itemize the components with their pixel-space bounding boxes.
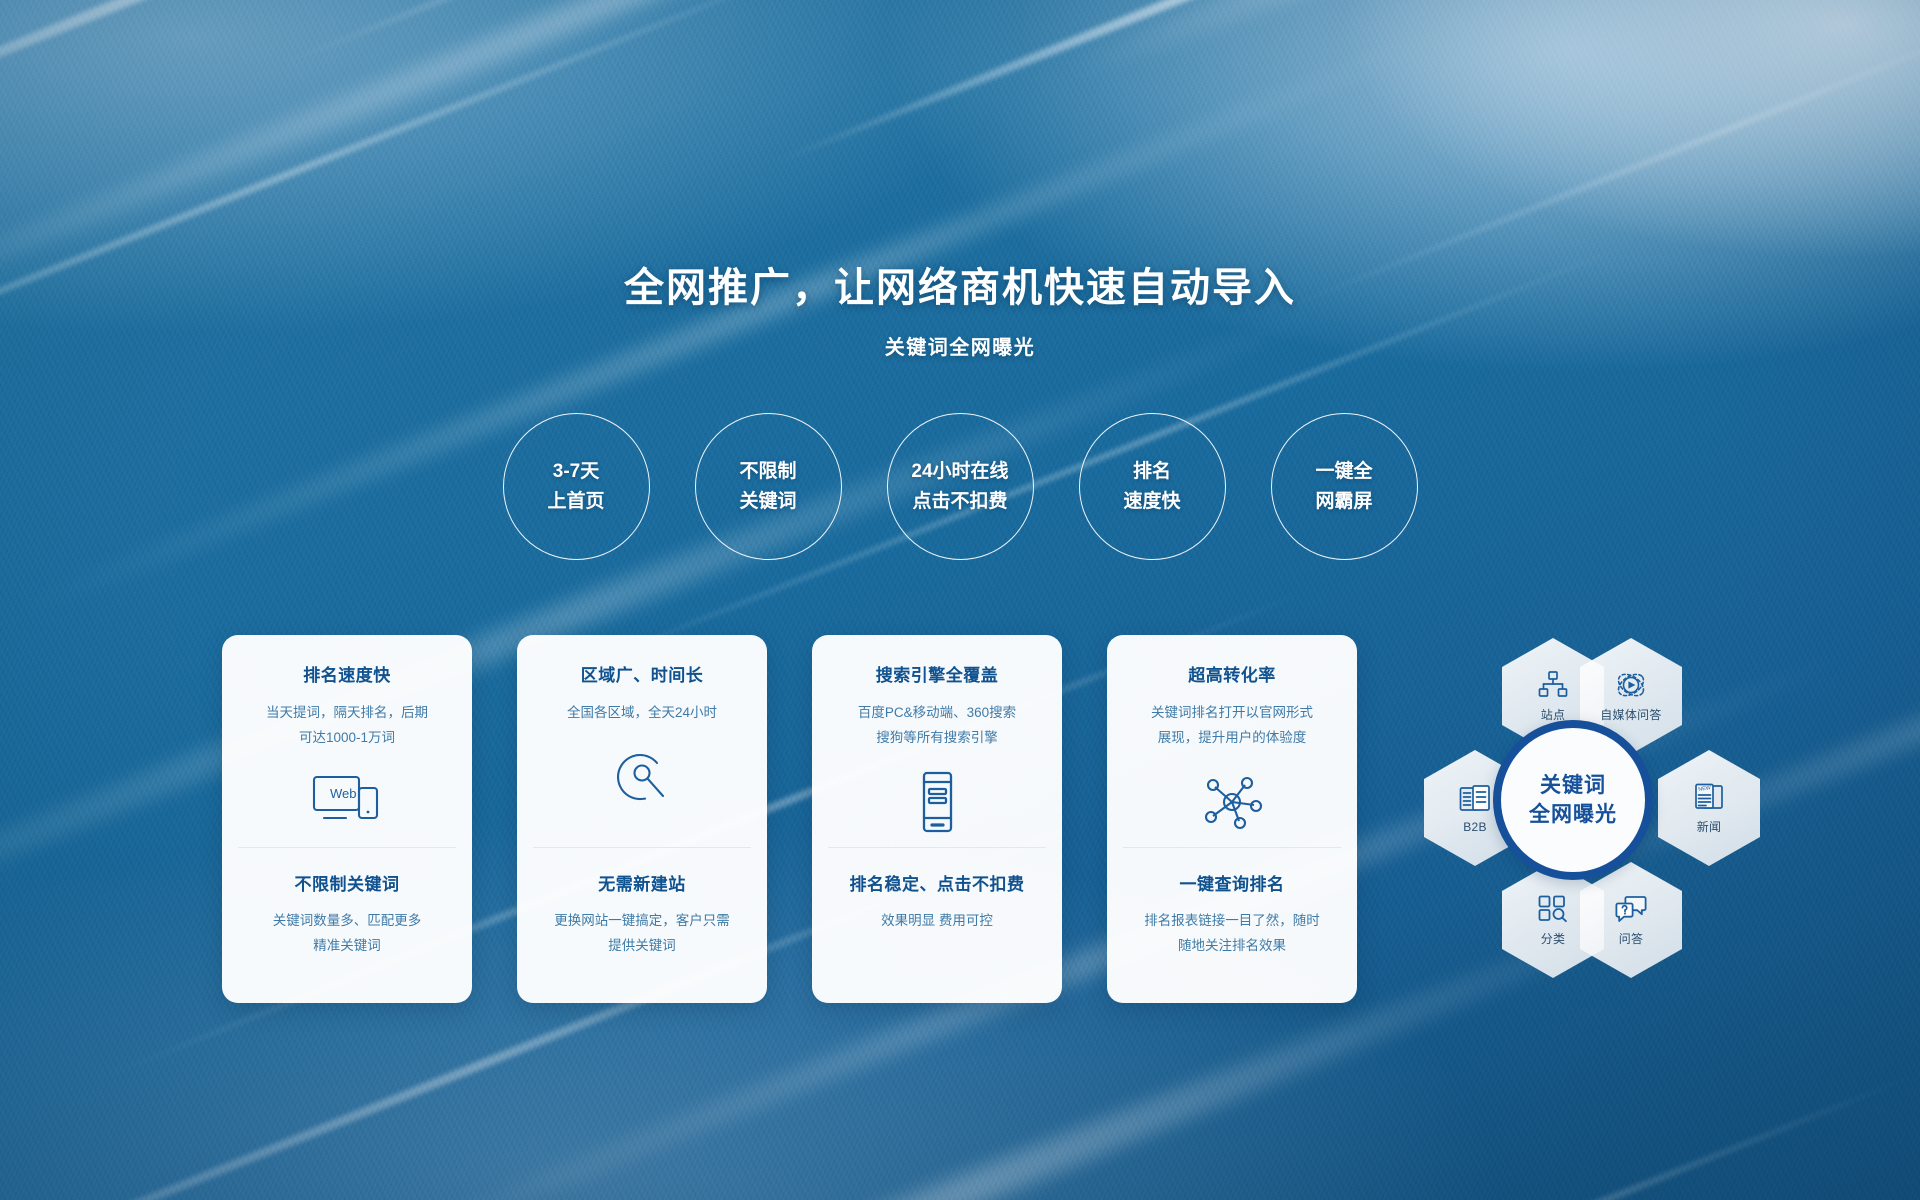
mobile-device-icon xyxy=(829,763,1045,841)
card-top-heading: 排名速度快 xyxy=(239,661,455,686)
web-monitor-phone-icon: Web xyxy=(239,763,455,841)
center-line-2: 全网曝光 xyxy=(1529,800,1617,829)
card-bottom-text: 关键词数量多、匹配更多 精准关键词 xyxy=(239,909,455,959)
card-top-text-line-1: 百度PC&移动端、360搜索 xyxy=(829,701,1045,726)
feature-card-4[interactable]: 超高转化率 关键词排名打开以官网形式 展现，提升用户的体验度 xyxy=(1107,635,1357,1003)
card-top-text: 全国各区域，全天24小时 xyxy=(534,701,750,726)
page-header: 全网推广，让网络商机快速自动导入 关键词全网曝光 xyxy=(0,255,1920,360)
circle-line-2: 上首页 xyxy=(547,487,604,516)
card-bottom-text: 更换网站一键搞定，客户只需 提供关键词 xyxy=(534,909,750,959)
card-top-section: 排名速度快 当天提词，隔天排名，后期 可达1000-1万词 Web xyxy=(222,635,472,847)
sitemap-icon xyxy=(1538,669,1568,701)
hexagon-qa[interactable]: 问答 xyxy=(1580,862,1682,978)
hexagon-label: 自媒体问答 xyxy=(1600,706,1662,723)
hexagon-label: B2B xyxy=(1463,820,1487,834)
hexagon-label: 分类 xyxy=(1541,930,1566,947)
card-top-text: 关键词排名打开以官网形式 展现，提升用户的体验度 xyxy=(1124,701,1340,751)
card-top-text-line-2: 展现，提升用户的体验度 xyxy=(1124,726,1340,751)
card-top-text-line-1: 关键词排名打开以官网形式 xyxy=(1124,701,1340,726)
card-top-section: 区域广、时间长 全国各区域，全天24小时 xyxy=(517,635,767,847)
hexagon-label: 问答 xyxy=(1619,930,1644,947)
network-nodes-icon xyxy=(1124,763,1340,841)
card-top-text: 当天提词，隔天排名，后期 可达1000-1万词 xyxy=(239,701,455,751)
circle-line-1: 不限制 xyxy=(739,457,796,486)
documents-icon xyxy=(1459,783,1491,815)
card-bottom-section: 无需新建站 更换网站一键搞定，客户只需 提供关键词 xyxy=(517,848,767,1003)
feature-circles: 3-7天 上首页 不限制 关键词 24小时在线 点击不扣费 排名 速度快 一键全… xyxy=(0,413,1920,560)
card-bottom-section: 排名稳定、点击不扣费 效果明显 费用可控 xyxy=(812,848,1062,1003)
card-top-heading: 区域广、时间长 xyxy=(534,661,750,686)
circle-unlimited-keywords[interactable]: 不限制 关键词 xyxy=(695,413,842,560)
grid-search-icon xyxy=(1538,893,1568,925)
card-bottom-text-line-1: 关键词数量多、匹配更多 xyxy=(239,909,455,934)
card-top-heading: 超高转化率 xyxy=(1124,661,1340,686)
card-bottom-heading: 无需新建站 xyxy=(534,870,750,895)
card-top-section: 超高转化率 关键词排名打开以官网形式 展现，提升用户的体验度 xyxy=(1107,635,1357,847)
card-bottom-section: 一键查询排名 排名报表链接一目了然，随时 随地关注排名效果 xyxy=(1107,848,1357,1003)
hexagon-news[interactable]: NEW 新闻 xyxy=(1658,750,1760,866)
circle-line-2: 网霸屏 xyxy=(1315,487,1372,516)
card-bottom-text-line-1: 更换网站一键搞定，客户只需 xyxy=(534,909,750,934)
feature-card-2[interactable]: 区域广、时间长 全国各区域，全天24小时 无需新建站 更换网站一键搞 xyxy=(517,635,767,1003)
circle-line-1: 排名 xyxy=(1133,457,1171,486)
card-bottom-section: 不限制关键词 关键词数量多、匹配更多 精准关键词 xyxy=(222,848,472,1003)
feature-card-1[interactable]: 排名速度快 当天提词，隔天排名，后期 可达1000-1万词 Web xyxy=(222,635,472,1003)
circle-line-1: 24小时在线 xyxy=(911,457,1008,486)
card-top-text-line-2: 搜狗等所有搜索引擎 xyxy=(829,726,1045,751)
card-bottom-text: 效果明显 费用可控 xyxy=(829,909,1045,934)
circle-line-2: 点击不扣费 xyxy=(912,487,1007,516)
card-bottom-text-line-1: 效果明显 费用可控 xyxy=(829,909,1045,934)
chat-question-icon xyxy=(1615,893,1647,925)
card-bottom-text: 排名报表链接一目了然，随时 随地关注排名效果 xyxy=(1124,909,1340,959)
circle-one-click-dominate[interactable]: 一键全 网霸屏 xyxy=(1271,413,1418,560)
channel-hexagon-cluster: 站点 自媒体问答 xyxy=(1398,638,1758,978)
disc-magnifier-icon xyxy=(534,738,750,816)
card-bottom-heading: 排名稳定、点击不扣费 xyxy=(829,870,1045,895)
page-subtitle: 关键词全网曝光 xyxy=(0,331,1920,360)
card-top-text-line-1: 全国各区域，全天24小时 xyxy=(534,701,750,726)
circle-line-2: 速度快 xyxy=(1123,487,1180,516)
card-bottom-text-line-2: 提供关键词 xyxy=(534,934,750,959)
page-title: 全网推广，让网络商机快速自动导入 xyxy=(0,255,1920,313)
newspaper-new-icon: NEW xyxy=(1693,781,1725,813)
circle-line-1: 一键全 xyxy=(1315,457,1372,486)
card-bottom-heading: 一键查询排名 xyxy=(1124,870,1340,895)
hexagon-center-badge: 关键词 全网曝光 xyxy=(1493,720,1653,880)
card-bottom-heading: 不限制关键词 xyxy=(239,870,455,895)
card-top-heading: 搜索引擎全覆盖 xyxy=(829,661,1045,686)
circle-fast-ranking[interactable]: 3-7天 上首页 xyxy=(503,413,650,560)
circle-24h-online[interactable]: 24小时在线 点击不扣费 xyxy=(887,413,1034,560)
card-top-text-line-2: 可达1000-1万词 xyxy=(239,726,455,751)
web-icon-label: Web xyxy=(330,786,357,801)
card-bottom-text-line-2: 精准关键词 xyxy=(239,934,455,959)
center-line-1: 关键词 xyxy=(1540,771,1606,800)
card-bottom-text-line-1: 排名报表链接一目了然，随时 xyxy=(1124,909,1340,934)
card-top-text: 百度PC&移动端、360搜索 搜狗等所有搜索引擎 xyxy=(829,701,1045,751)
hexagon-label: 新闻 xyxy=(1697,818,1722,835)
circle-ranking-speed[interactable]: 排名 速度快 xyxy=(1079,413,1226,560)
feature-card-3[interactable]: 搜索引擎全覆盖 百度PC&移动端、360搜索 搜狗等所有搜索引擎 xyxy=(812,635,1062,1003)
circle-line-1: 3-7天 xyxy=(553,457,599,486)
page-stage: 全网推广，让网络商机快速自动导入 关键词全网曝光 3-7天 上首页 不限制 关键… xyxy=(0,0,1920,1200)
card-top-section: 搜索引擎全覆盖 百度PC&移动端、360搜索 搜狗等所有搜索引擎 xyxy=(812,635,1062,847)
circle-line-2: 关键词 xyxy=(739,487,796,516)
card-bottom-text-line-2: 随地关注排名效果 xyxy=(1124,934,1340,959)
card-top-text-line-1: 当天提词，隔天排名，后期 xyxy=(239,701,455,726)
media-play-icon xyxy=(1615,669,1647,701)
feature-cards: 排名速度快 当天提词，隔天排名，后期 可达1000-1万词 Web xyxy=(222,635,1357,1003)
